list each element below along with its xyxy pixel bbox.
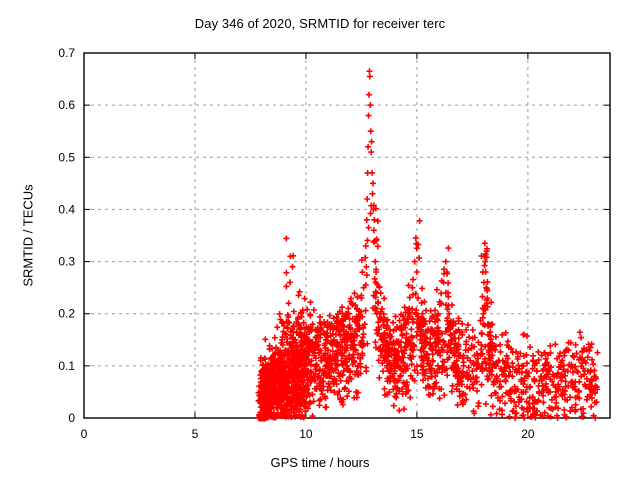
x-tick-label: 5 (192, 427, 199, 441)
data-point (366, 225, 372, 231)
data-point (402, 304, 408, 310)
data-point (283, 270, 289, 276)
data-point (507, 414, 513, 420)
data-point (535, 349, 541, 355)
data-point (364, 272, 370, 278)
data-point (307, 311, 313, 317)
data-point (414, 269, 420, 275)
data-point (485, 376, 491, 382)
data-point (317, 314, 323, 320)
data-point (283, 283, 289, 289)
data-point (371, 227, 377, 233)
y-tick-label: 0.5 (58, 150, 75, 164)
data-point (272, 335, 278, 341)
data-point (419, 285, 425, 291)
data-point (584, 397, 590, 403)
data-point (274, 324, 280, 330)
y-tick-label: 0.6 (58, 98, 75, 112)
data-point (363, 264, 369, 270)
data-point (417, 218, 423, 224)
data-point (413, 235, 419, 241)
data-point (363, 308, 369, 314)
data-point (372, 259, 378, 265)
data-point (391, 403, 397, 409)
data-point (474, 388, 480, 394)
data-point (296, 292, 302, 298)
data-point (505, 338, 511, 344)
data-point (360, 334, 366, 340)
data-point (372, 276, 378, 282)
data-point (490, 403, 496, 409)
data-point (561, 407, 567, 413)
data-point (322, 404, 328, 410)
gnuplot-scatter-plot: Day 346 of 2020, SRMTID for receiver ter… (0, 0, 640, 480)
data-point (370, 191, 376, 197)
data-point (434, 287, 440, 293)
data-point (375, 218, 381, 224)
data-point (393, 313, 399, 319)
data-point (311, 307, 317, 313)
data-point (470, 327, 476, 333)
x-tick-label: 20 (521, 427, 535, 441)
data-point (277, 311, 283, 317)
y-tick-label: 0.3 (58, 255, 75, 269)
data-point (366, 92, 372, 98)
data-point (371, 217, 377, 223)
data-point (379, 306, 385, 312)
data-point (367, 102, 373, 108)
y-tick-label: 0 (68, 411, 75, 425)
data-point (445, 280, 451, 286)
x-tick-label: 15 (410, 427, 424, 441)
data-point (390, 320, 396, 326)
data-point (479, 382, 485, 388)
data-point (483, 401, 489, 407)
data-point (372, 339, 378, 345)
data-point (368, 128, 374, 134)
data-point (479, 331, 485, 337)
data-point (575, 369, 581, 375)
data-point (578, 335, 584, 341)
data-point (365, 237, 371, 243)
data-point (494, 411, 500, 417)
data-point (364, 196, 370, 202)
data-point (359, 269, 365, 275)
y-tick-label: 0.4 (58, 202, 75, 216)
data-point (363, 243, 369, 249)
data-point (449, 302, 455, 308)
data-point (289, 264, 295, 270)
y-axis-label: SRMTID / TECUs (21, 136, 36, 336)
data-point-series (256, 68, 601, 421)
data-point (302, 296, 308, 302)
data-point (365, 144, 371, 150)
data-point (530, 353, 536, 359)
data-point (376, 375, 382, 381)
data-point (380, 368, 386, 374)
data-point (283, 235, 289, 241)
data-point (369, 139, 375, 145)
y-tick-label: 0.1 (58, 359, 75, 373)
data-point (482, 240, 488, 246)
data-point (589, 341, 595, 347)
data-point (445, 245, 451, 251)
data-point (366, 68, 372, 74)
data-point (363, 368, 369, 374)
data-point (393, 395, 399, 401)
data-point (369, 170, 375, 176)
data-point (367, 73, 373, 79)
data-point (297, 289, 303, 295)
data-point (364, 217, 370, 223)
data-point (368, 149, 374, 155)
data-point (399, 332, 405, 338)
x-tick-label: 10 (299, 427, 313, 441)
data-point (497, 349, 503, 355)
plot-canvas: 00.10.20.30.40.50.60.705101520 (0, 0, 640, 480)
data-point (577, 329, 583, 335)
data-point (287, 279, 293, 285)
data-point (381, 386, 387, 392)
data-point (381, 295, 387, 301)
data-point (426, 392, 432, 398)
data-point (408, 326, 414, 332)
data-point (456, 335, 462, 341)
data-point (262, 336, 268, 342)
y-tick-label: 0.2 (58, 307, 75, 321)
data-point (262, 356, 268, 362)
data-point (407, 395, 413, 401)
data-point (443, 259, 449, 265)
data-point (478, 347, 484, 353)
data-point (576, 379, 582, 385)
x-tick-label: 0 (81, 427, 88, 441)
data-point (484, 279, 490, 285)
data-point (437, 395, 443, 401)
data-point (416, 255, 422, 261)
data-point (366, 113, 372, 119)
data-point (370, 180, 376, 186)
x-axis-label: GPS time / hours (0, 455, 640, 470)
data-point (410, 277, 416, 283)
data-point (476, 400, 482, 406)
data-point (512, 415, 518, 421)
data-point (594, 350, 600, 356)
data-point (588, 404, 594, 410)
data-point (316, 402, 322, 408)
y-tick-label: 0.7 (58, 46, 75, 60)
data-point (307, 299, 313, 305)
data-point (441, 392, 447, 398)
data-point (488, 412, 494, 418)
data-point-cluster (259, 415, 266, 422)
data-point (375, 243, 381, 249)
data-point (286, 300, 292, 306)
data-point (345, 305, 351, 311)
